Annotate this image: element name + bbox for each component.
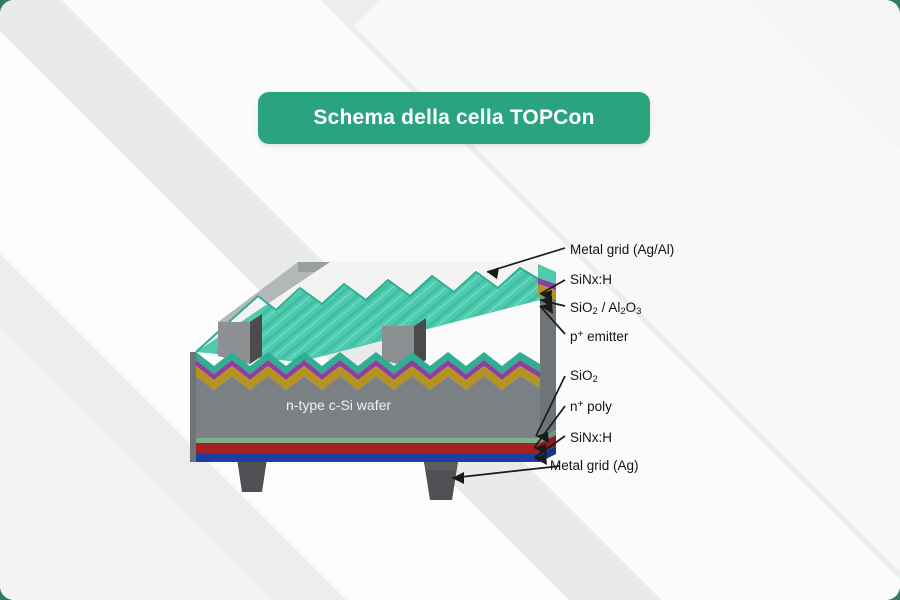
- content-card: Schema della cella TOPCon: [0, 0, 900, 600]
- label-metal-grid-top: Metal grid (Ag/Al): [570, 242, 674, 257]
- label-sinx-bottom: SiNx:H: [570, 430, 612, 445]
- bottom-metal-pad-right: [424, 462, 458, 500]
- label-metal-grid-bottom: Metal grid (Ag): [550, 458, 639, 473]
- label-n-poly: n+ poly: [570, 399, 612, 414]
- wafer-left-face: [190, 352, 196, 462]
- wafer-label: n-type c-Si wafer: [286, 397, 391, 413]
- topcon-cell-diagram: [0, 0, 900, 600]
- label-sio2-al2o3: SiO2 / Al2O3: [570, 300, 641, 315]
- label-sio2-bottom: SiO2: [570, 368, 598, 383]
- screenshot-root: Schema della cella TOPCon: [0, 0, 900, 600]
- label-sinx-top: SiNx:H: [570, 272, 612, 287]
- label-p-emitter: p+ emitter: [570, 329, 628, 344]
